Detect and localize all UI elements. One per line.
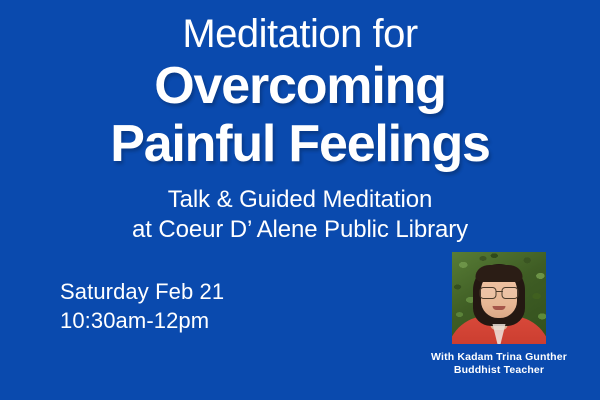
subheadline-block: Talk & Guided Meditation at Coeur D’ Ale…	[0, 185, 600, 245]
event-poster: Meditation for Overcoming Painful Feelin…	[0, 0, 600, 400]
headline-line-1: Meditation for	[0, 14, 600, 56]
speaker-photo	[452, 252, 546, 344]
subheadline-line-2: at Coeur D’ Alene Public Library	[0, 215, 600, 245]
event-date: Saturday Feb 21	[60, 277, 224, 306]
event-time: 10:30am-12pm	[60, 306, 224, 335]
glasses-icon	[480, 287, 519, 298]
headline-block: Meditation for Overcoming Painful Feelin…	[0, 14, 600, 170]
headline-line-2: Overcoming	[0, 56, 600, 112]
glasses-bridge	[496, 291, 503, 292]
speaker-name: With Kadam Trina Gunther	[404, 351, 594, 364]
photo-mouth	[493, 306, 506, 310]
speaker-caption: With Kadam Trina Gunther Buddhist Teache…	[404, 351, 594, 378]
speaker-block: With Kadam Trina Gunther Buddhist Teache…	[452, 252, 546, 378]
speaker-title: Buddhist Teacher	[404, 364, 594, 377]
photo-hair-fringe	[476, 265, 523, 282]
subheadline-line-1: Talk & Guided Meditation	[0, 185, 600, 215]
headline-line-3: Painful Feelings	[0, 112, 600, 170]
event-schedule: Saturday Feb 21 10:30am-12pm	[60, 277, 224, 335]
